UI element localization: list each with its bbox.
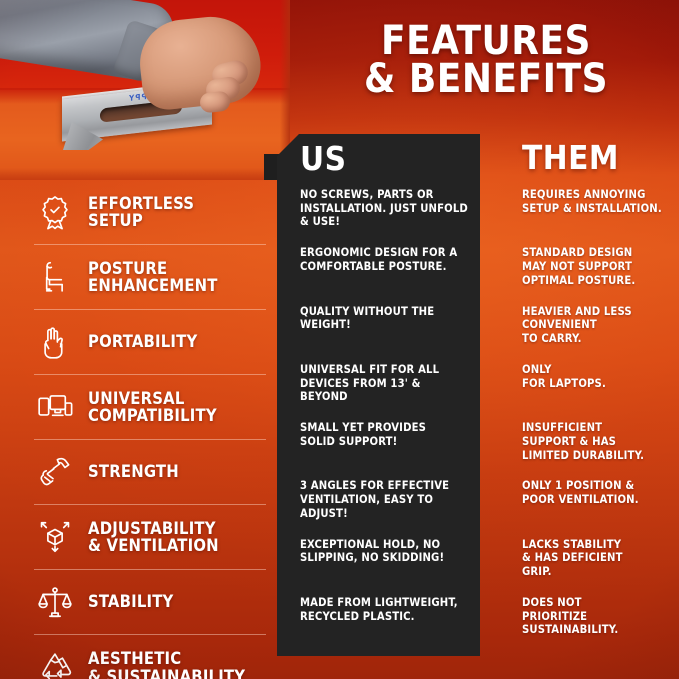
page-title: FEATURES & BENEFITS: [300, 22, 672, 99]
them-row-text: STANDARD DESIGN MAY NOT SUPPORT OPTIMAL …: [522, 246, 672, 287]
feature-item-universal-compatibility: UNIVERSAL COMPATIBILITY: [34, 375, 266, 440]
title-line-2: & BENEFITS: [300, 60, 672, 98]
feature-item-posture-enhancement: POSTURE ENHANCEMENT: [34, 245, 266, 310]
them-column-heading: THEM: [522, 141, 619, 174]
feature-label: POSTURE ENHANCEMENT: [88, 260, 218, 295]
them-row-text: ONLY FOR LAPTOPS.: [522, 363, 672, 390]
them-row: LACKS STABILITY & HAS DEFICIENT GRIP.: [522, 538, 672, 596]
us-row-text: MADE FROM LIGHTWEIGHT, RECYCLED PLASTIC.: [300, 596, 472, 623]
them-row: HEAVIER AND LESS CONVENIENT TO CARRY.: [522, 305, 672, 363]
us-row-text: NO SCREWS, PARTS OR INSTALLATION. JUST U…: [300, 188, 472, 229]
us-row: SMALL YET PROVIDES SOLID SUPPORT!: [300, 421, 472, 479]
them-row: STANDARD DESIGN MAY NOT SUPPORT OPTIMAL …: [522, 246, 672, 304]
feature-item-stability: STABILITY: [34, 570, 266, 635]
us-row: EXCEPTIONAL HOLD, NO SLIPPING, NO SKIDDI…: [300, 538, 472, 596]
feature-label: AESTHETIC & SUSTAINABILITY: [88, 650, 245, 679]
feature-item-adjustability-ventilation: ADJUSTABILITY & VENTILATION: [34, 505, 266, 570]
recycle-icon: [34, 647, 76, 679]
award-badge-icon: [34, 191, 76, 233]
ergonomic-chair-icon: [34, 256, 76, 298]
us-row: UNIVERSAL FIT FOR ALL DEVICES FROM 13' &…: [300, 363, 472, 421]
feature-item-strength: STRENGTH: [34, 440, 266, 505]
them-row-text: LACKS STABILITY & HAS DEFICIENT GRIP.: [522, 538, 672, 579]
feature-list: EFFORTLESS SETUP POSTURE ENHANCEMENT: [34, 180, 266, 679]
us-row-text: SMALL YET PROVIDES SOLID SUPPORT!: [300, 421, 472, 448]
feature-label: PORTABILITY: [88, 333, 197, 350]
feature-label: STRENGTH: [88, 463, 179, 480]
us-row-text: UNIVERSAL FIT FOR ALL DEVICES FROM 13' &…: [300, 363, 472, 404]
them-column-rows: REQUIRES ANNOYING SETUP & INSTALLATION. …: [522, 188, 672, 654]
us-row-text: ERGONOMIC DESIGN FOR A COMFORTABLE POSTU…: [300, 246, 472, 273]
feature-item-effortless-setup: EFFORTLESS SETUP: [34, 180, 266, 245]
them-row-text: DOES NOT PRIORITIZE SUSTAINABILITY.: [522, 596, 672, 637]
feature-item-portability: PORTABILITY: [34, 310, 266, 375]
them-row-text: HEAVIER AND LESS CONVENIENT TO CARRY.: [522, 305, 672, 346]
us-row: ERGONOMIC DESIGN FOR A COMFORTABLE POSTU…: [300, 246, 472, 304]
us-row: 3 ANGLES FOR EFFECTIVE VENTILATION, EASY…: [300, 479, 472, 537]
hand-hammer-icon: [34, 451, 76, 493]
us-row-text: QUALITY WITHOUT THE WEIGHT!: [300, 305, 472, 332]
them-row-text: INSUFFICIENT SUPPORT & HAS LIMITED DURAB…: [522, 421, 672, 462]
them-row: ONLY FOR LAPTOPS.: [522, 363, 672, 421]
them-row: DOES NOT PRIORITIZE SUSTAINABILITY.: [522, 596, 672, 654]
us-row: NO SCREWS, PARTS OR INSTALLATION. JUST U…: [300, 188, 472, 246]
them-row: ONLY 1 POSITION & POOR VENTILATION.: [522, 479, 672, 537]
us-column-heading: US: [300, 142, 347, 175]
cube-arrows-icon: [34, 516, 76, 558]
us-row-text: 3 ANGLES FOR EFFECTIVE VENTILATION, EASY…: [300, 479, 472, 520]
hand-in-pocket-icon: [34, 321, 76, 363]
feature-label: ADJUSTABILITY & VENTILATION: [88, 520, 219, 555]
them-row: INSUFFICIENT SUPPORT & HAS LIMITED DURAB…: [522, 421, 672, 479]
multi-device-icon: [34, 386, 76, 428]
photo-bottom-fade: [0, 168, 290, 180]
feature-label: EFFORTLESS SETUP: [88, 195, 194, 230]
feature-item-aesthetic-sustainability: AESTHETIC & SUSTAINABILITY: [34, 635, 266, 679]
balance-scales-icon: [34, 581, 76, 623]
us-row: MADE FROM LIGHTWEIGHT, RECYCLED PLASTIC.: [300, 596, 472, 654]
feature-label: UNIVERSAL COMPATIBILITY: [88, 390, 217, 425]
us-column-rows: NO SCREWS, PARTS OR INSTALLATION. JUST U…: [300, 188, 472, 654]
us-row: QUALITY WITHOUT THE WEIGHT!: [300, 305, 472, 363]
product-photo: STEPPY: [0, 0, 290, 180]
feature-label: STABILITY: [88, 593, 174, 610]
them-row: REQUIRES ANNOYING SETUP & INSTALLATION.: [522, 188, 672, 246]
them-row-text: ONLY 1 POSITION & POOR VENTILATION.: [522, 479, 672, 506]
features-benefits-poster: STEPPY FEATURES & BENEFITS EFFORTLESS S: [0, 0, 679, 679]
us-row-text: EXCEPTIONAL HOLD, NO SLIPPING, NO SKIDDI…: [300, 538, 472, 565]
them-row-text: REQUIRES ANNOYING SETUP & INSTALLATION.: [522, 188, 672, 215]
